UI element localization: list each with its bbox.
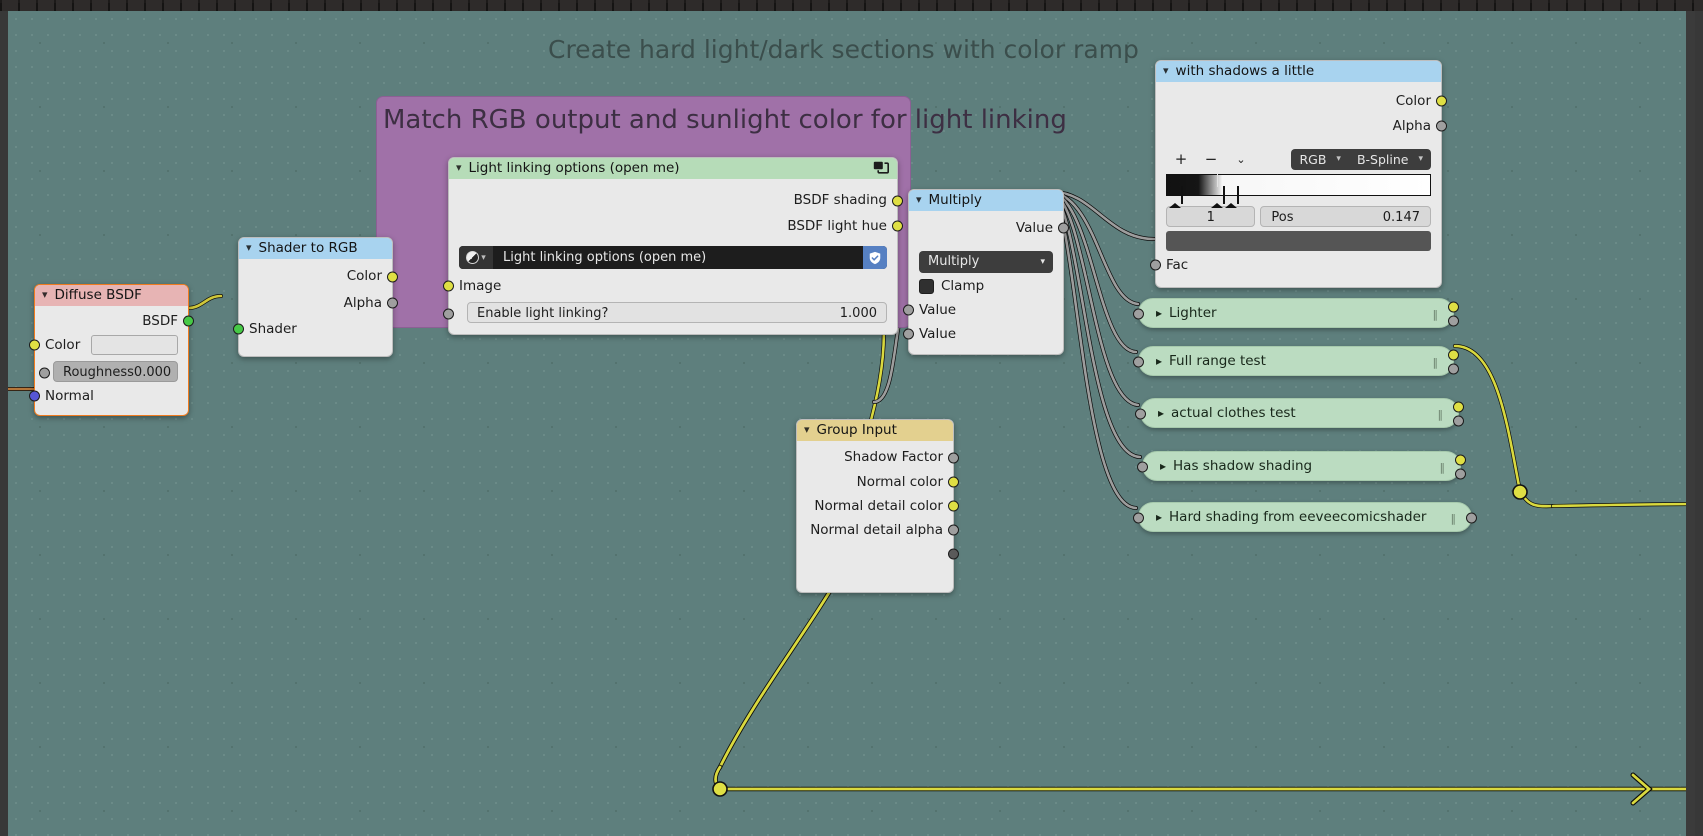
- canvas-title-label: Create hard light/dark sections with col…: [548, 35, 1139, 64]
- checkbox-box[interactable]: [919, 279, 934, 294]
- node-title: Light linking options (open me): [469, 158, 680, 179]
- resize-grip-icon: ‖: [1440, 461, 1447, 474]
- socket-alpha-out[interactable]: [387, 298, 398, 309]
- node-title: Multiply: [929, 190, 982, 211]
- group-node-label: Full range test: [1169, 353, 1266, 369]
- output-label: BSDF light hue: [787, 218, 887, 234]
- socket-color-out[interactable]: [1436, 96, 1447, 107]
- socket-group-out-color[interactable]: [1453, 402, 1464, 413]
- socket-normal-in[interactable]: [29, 391, 40, 402]
- input-socket-row-color[interactable]: Color: [35, 332, 188, 358]
- input-label: Normal: [45, 388, 94, 404]
- output-label: Normal color: [857, 474, 943, 490]
- node-body: BSDF Color Roughness 0.000: [35, 306, 188, 415]
- input-label: Value: [919, 326, 956, 342]
- chevron-down-icon[interactable]: ▾: [42, 284, 48, 305]
- resize-grip-icon: ‖: [1451, 512, 1458, 525]
- chevron-down-icon[interactable]: ▾: [1418, 154, 1423, 164]
- input-label: Fac: [1166, 257, 1188, 273]
- output-label: Normal detail color: [814, 498, 943, 514]
- chevron-down-icon[interactable]: ▾: [1163, 60, 1169, 81]
- socket-bsdf-shading-out[interactable]: [892, 195, 903, 206]
- remove-stop-button[interactable]: −: [1196, 150, 1226, 168]
- output-socket-row-normal-color[interactable]: Normal color: [797, 470, 953, 494]
- socket-color-out[interactable]: [387, 271, 398, 282]
- input-socket-row-image[interactable]: Image: [449, 273, 897, 299]
- ramp-value-row[interactable]: 1 Pos 0.147: [1156, 196, 1441, 227]
- socket-group-in[interactable]: [1137, 462, 1148, 473]
- output-socket-row-bsdf[interactable]: BSDF: [35, 310, 188, 332]
- output-label: BSDF shading: [794, 192, 887, 208]
- output-socket-row-alpha[interactable]: Alpha: [239, 290, 392, 316]
- socket-image-in[interactable]: [443, 281, 454, 292]
- node-group-hard-shading-from-eeveecomicshader[interactable]: ▸ Hard shading from eeveecomicshader ‖: [1138, 502, 1472, 532]
- node-group-actual-clothes-test[interactable]: ▸ actual clothes test ‖: [1140, 398, 1459, 428]
- socket-alpha-out[interactable]: [1436, 121, 1447, 132]
- output-socket-row-bsdf-shading[interactable]: BSDF shading: [449, 187, 897, 214]
- node-body: Color Alpha Shader: [239, 259, 392, 356]
- socket-group-in[interactable]: [1133, 309, 1144, 320]
- duplicate-icon[interactable]: [873, 161, 889, 176]
- input-socket-row-normal[interactable]: Normal: [35, 385, 188, 407]
- output-socket-row-color[interactable]: Color: [1156, 88, 1441, 114]
- enable-light-linking-field[interactable]: Enable light linking? 1.000: [467, 302, 887, 323]
- socket-group-out[interactable]: [1466, 513, 1477, 524]
- roughness-label: Roughness: [63, 362, 134, 381]
- output-label: Normal detail alpha: [810, 522, 943, 538]
- node-group-lighter[interactable]: ▸ Lighter ‖: [1138, 298, 1454, 328]
- output-socket-row-virtual[interactable]: [797, 542, 953, 566]
- stop-tip: [1225, 187, 1237, 208]
- stop-color-box: [1237, 186, 1239, 204]
- input-label: Shader: [249, 321, 297, 337]
- socket-group-out-color[interactable]: [1448, 350, 1459, 361]
- output-label: Color: [1396, 93, 1431, 109]
- add-stop-button[interactable]: +: [1166, 150, 1196, 168]
- socket-bsdf-light-hue-out[interactable]: [892, 221, 903, 232]
- chevron-down-icon[interactable]: ▾: [246, 237, 252, 258]
- node-diffuse-bsdf[interactable]: ▾ Diffuse BSDF BSDF Color Roughness: [34, 284, 189, 416]
- roughness-value: 0.000: [134, 362, 171, 381]
- node-body: Shadow Factor Normal color Normal detail…: [797, 441, 953, 592]
- socket-group-in[interactable]: [1135, 409, 1146, 420]
- output-label: Alpha: [344, 295, 382, 311]
- input-label: Image: [459, 278, 501, 294]
- socket-roughness-in[interactable]: [39, 368, 50, 379]
- resize-grip-icon: ‖: [1438, 408, 1445, 421]
- output-socket-row-value[interactable]: Value: [909, 215, 1063, 241]
- color-swatch-field[interactable]: [91, 335, 178, 355]
- ramp-stop-handle[interactable]: [1169, 187, 1182, 203]
- input-socket-row-shader[interactable]: Shader: [239, 316, 392, 342]
- ramp-stop-handle[interactable]: [1211, 187, 1224, 203]
- socket-color-in[interactable]: [29, 340, 40, 351]
- socket-group-out-alpha[interactable]: [1448, 316, 1459, 327]
- shield-check-icon[interactable]: [863, 246, 887, 269]
- input-label: Color: [45, 337, 80, 353]
- frame-node-label: Match RGB output and sunlight color for …: [383, 105, 904, 135]
- output-label: Value: [1016, 220, 1053, 236]
- socket-group-out-color[interactable]: [1455, 455, 1466, 466]
- chevron-down-icon[interactable]: ▾: [1336, 154, 1341, 164]
- node-header[interactable]: ▾ Light linking options (open me): [449, 158, 897, 179]
- resize-grip-icon: ‖: [1433, 308, 1440, 321]
- ramp-menu-button[interactable]: ⌄: [1226, 153, 1256, 166]
- node-title: Diffuse BSDF: [55, 285, 142, 306]
- group-node-label: Has shadow shading: [1173, 458, 1312, 474]
- output-socket-row-shadow-factor[interactable]: Shadow Factor: [797, 445, 953, 470]
- node-header[interactable]: ▾ Shader to RGB: [239, 238, 392, 259]
- ramp-stop-handle[interactable]: [1225, 187, 1238, 203]
- socket-group-out-alpha[interactable]: [1448, 364, 1459, 375]
- socket-normal-detail-color-out[interactable]: [948, 501, 959, 512]
- input-socket-row-value-1[interactable]: Value: [909, 298, 1063, 322]
- node-color-ramp[interactable]: ▾ with shadows a little Color Alpha + − …: [1155, 60, 1442, 288]
- node-header[interactable]: ▾ with shadows a little: [1156, 61, 1441, 82]
- socket-group-in[interactable]: [1133, 357, 1144, 368]
- socket-group-in[interactable]: [1133, 513, 1144, 524]
- socket-value-in-2[interactable]: [903, 329, 914, 340]
- socket-normal-detail-alpha-out[interactable]: [948, 525, 959, 536]
- chevron-down-icon[interactable]: ▾: [1040, 251, 1045, 273]
- node-body: Color Alpha + − ⌄ RGB ▾: [1156, 82, 1441, 287]
- color-ramp-strip[interactable]: [1166, 174, 1431, 196]
- input-socket-row-fac[interactable]: Fac: [1156, 251, 1441, 279]
- chevron-down-icon[interactable]: ▾: [456, 157, 462, 178]
- socket-normal-color-out[interactable]: [948, 477, 959, 488]
- enable-light-linking-label: Enable light linking?: [477, 303, 608, 322]
- socket-value-out[interactable]: [1058, 223, 1069, 234]
- socket-group-out-color[interactable]: [1448, 302, 1459, 313]
- output-socket-row-normal-detail-alpha[interactable]: Normal detail alpha: [797, 518, 953, 542]
- socket-fac-in[interactable]: [1150, 260, 1161, 271]
- input-socket-row-value-2[interactable]: Value: [909, 322, 1063, 346]
- output-label: Color: [347, 268, 382, 284]
- ramp-dropdown-group[interactable]: RGB ▾ B-Spline ▾: [1291, 149, 1431, 170]
- ramp-stop-color-swatch[interactable]: [1166, 231, 1431, 251]
- reroute-node[interactable]: [1513, 485, 1527, 499]
- operation-value: Multiply: [928, 254, 979, 269]
- interpolation-value: B-Spline: [1357, 152, 1409, 167]
- ramp-index-field[interactable]: 1: [1166, 206, 1255, 227]
- ruler-ticks: [0, 3, 1703, 11]
- node-body: BSDF shading BSDF light hue ▾ Light link…: [449, 179, 897, 334]
- input-socket-row-roughness[interactable]: Roughness 0.000: [35, 361, 188, 385]
- ramp-pos-field[interactable]: Pos 0.147: [1260, 206, 1431, 227]
- input-label: Value: [919, 302, 956, 318]
- clamp-label: Clamp: [941, 278, 984, 294]
- output-label: Shadow Factor: [844, 449, 943, 465]
- sphere-glyph: [466, 251, 479, 264]
- node-header[interactable]: ▾ Diffuse BSDF: [35, 285, 188, 306]
- roughness-slider[interactable]: Roughness 0.000: [53, 361, 178, 382]
- interpolation-dropdown[interactable]: B-Spline ▾: [1349, 149, 1431, 170]
- color-mode-dropdown[interactable]: RGB ▾: [1291, 149, 1348, 170]
- chevron-right-icon[interactable]: ▸: [1158, 406, 1164, 420]
- output-socket-row-color[interactable]: Color: [239, 263, 392, 290]
- output-label: BSDF: [142, 313, 178, 329]
- node-body: Value Multiply ▾ Clamp Value Value: [909, 211, 1063, 354]
- sphere-icon[interactable]: ▾: [459, 246, 493, 269]
- node-group-has-shadow-shading[interactable]: ▸ Has shadow shading ‖: [1142, 451, 1461, 481]
- chevron-right-icon[interactable]: ▸: [1156, 354, 1162, 368]
- node-canvas[interactable]: Create hard light/dark sections with col…: [8, 11, 1695, 836]
- node-header[interactable]: ▾ Multiply: [909, 190, 1063, 211]
- socket-bsdf-out[interactable]: [183, 316, 194, 327]
- stop-tip: [1211, 187, 1223, 208]
- color-mode-value: RGB: [1299, 152, 1326, 167]
- node-multiply[interactable]: ▾ Multiply Value Multiply ▾ Clamp: [908, 189, 1064, 355]
- chevron-down-icon[interactable]: ▾: [916, 189, 922, 210]
- group-node-label: actual clothes test: [1171, 405, 1296, 421]
- socket-shader-in[interactable]: [233, 324, 244, 335]
- output-socket-row-bsdf-light-hue[interactable]: BSDF light hue: [449, 214, 897, 238]
- socket-shadow-factor-out[interactable]: [948, 452, 959, 463]
- chevron-down-icon[interactable]: ▾: [804, 419, 810, 440]
- stop-selected-line: [1217, 174, 1219, 187]
- node-header[interactable]: ▾ Group Input: [797, 420, 953, 441]
- socket-enable-light-linking-in[interactable]: [443, 309, 454, 320]
- output-socket-row-normal-detail-color[interactable]: Normal detail color: [797, 494, 953, 518]
- chevron-right-icon[interactable]: ▸: [1156, 510, 1162, 524]
- editor-top-ruler: [0, 0, 1703, 11]
- node-shader-to-rgb[interactable]: ▾ Shader to RGB Color Alpha Shader: [238, 237, 393, 357]
- clamp-checkbox[interactable]: Clamp: [919, 276, 1053, 296]
- node-title: with shadows a little: [1176, 61, 1315, 82]
- pos-label: Pos: [1271, 207, 1293, 226]
- datablock-selector[interactable]: ▾ Light linking options (open me): [459, 246, 887, 269]
- socket-value-in-1[interactable]: [903, 305, 914, 316]
- chevron-down-icon[interactable]: ▾: [481, 253, 486, 263]
- chevron-right-icon[interactable]: ▸: [1160, 459, 1166, 473]
- node-light-linking-options[interactable]: ▾ Light linking options (open me) BSDF s…: [448, 157, 898, 335]
- chevron-right-icon[interactable]: ▸: [1156, 306, 1162, 320]
- blender-shader-editor-window: Create hard light/dark sections with col…: [0, 0, 1703, 836]
- resize-grip-icon: ‖: [1433, 356, 1440, 369]
- socket-group-out-alpha[interactable]: [1455, 469, 1466, 480]
- node-title: Group Input: [817, 420, 897, 441]
- output-socket-row-alpha[interactable]: Alpha: [1156, 114, 1441, 138]
- reroute-node[interactable]: [713, 782, 727, 796]
- stop-tip: [1169, 187, 1181, 208]
- datablock-name: Light linking options (open me): [493, 250, 863, 265]
- ramp-toolbar[interactable]: + − ⌄ RGB ▾ B-Spline ▾: [1156, 146, 1441, 170]
- enable-light-linking-value: 1.000: [840, 303, 877, 322]
- operation-dropdown[interactable]: Multiply ▾: [919, 251, 1053, 273]
- socket-group-out-alpha[interactable]: [1453, 416, 1464, 427]
- node-group-full-range-test[interactable]: ▸ Full range test ‖: [1138, 346, 1454, 376]
- node-title: Shader to RGB: [259, 238, 358, 259]
- socket-virtual-out[interactable]: [948, 549, 959, 560]
- node-group-input[interactable]: ▾ Group Input Shadow Factor Normal color…: [796, 419, 954, 593]
- group-node-label: Hard shading from eeveecomicshader: [1169, 509, 1426, 525]
- group-node-label: Lighter: [1169, 305, 1217, 321]
- pos-value: 0.147: [1383, 207, 1420, 226]
- input-socket-row-enable-light-linking[interactable]: Enable light linking? 1.000: [449, 302, 897, 326]
- stop-color-box: [1181, 186, 1183, 204]
- output-label: Alpha: [1393, 118, 1431, 134]
